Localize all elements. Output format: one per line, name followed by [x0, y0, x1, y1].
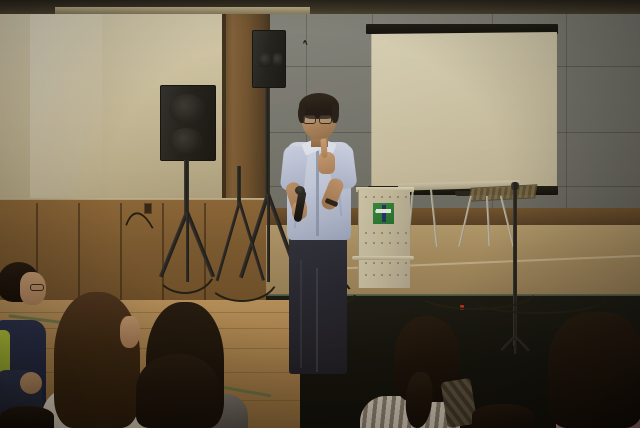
aux-stand-pole	[237, 166, 241, 206]
boy-glasses-icon	[30, 284, 44, 291]
girl-long-hair	[54, 292, 140, 428]
girl-front-hair	[136, 354, 220, 428]
wall-outlet-left[interactable]	[144, 203, 152, 214]
church-cross-logo-icon	[373, 203, 394, 224]
mic-stand-clip	[511, 182, 519, 190]
glasses-lens-left	[303, 115, 316, 124]
boy-knee	[20, 372, 42, 394]
projector-screen: Title ㄱ ˋ 능력을 베푸시는 하나님 ㄱ ㄱ	[371, 32, 557, 194]
child-left-small-hair	[0, 406, 54, 428]
girl-cheek	[120, 316, 140, 348]
wall-left-light-sheen	[30, 14, 102, 210]
pa-speaker-left	[160, 85, 216, 161]
glasses-bridge	[316, 118, 320, 119]
pa-speaker-right	[252, 30, 286, 88]
presenter	[270, 92, 366, 402]
child-far-right-hair	[472, 404, 534, 428]
ceiling-light-strip	[55, 7, 310, 14]
mic-stand-pole[interactable]	[513, 186, 517, 346]
presenter-trousers	[289, 234, 347, 374]
girl-right-hair	[548, 312, 640, 428]
glasses-lens-right	[319, 115, 332, 124]
speaker-stand-pole-left	[184, 160, 189, 216]
photo-scene: Title ㄱ ˋ 능력을 베푸시는 하나님 ㄱ ㄱ	[0, 0, 640, 428]
mic-stand-foot	[514, 340, 517, 354]
